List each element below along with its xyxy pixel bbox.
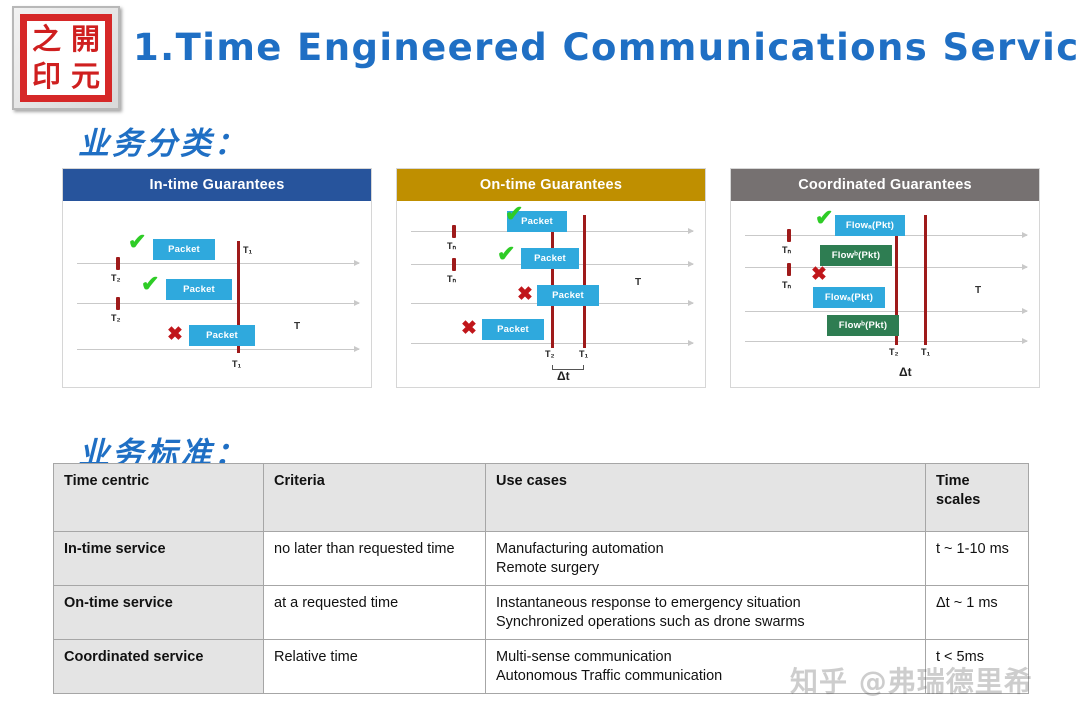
timeline-axis <box>745 341 1027 342</box>
packet-box: Packet <box>189 325 255 346</box>
tick-label-tn: Tₙ <box>447 274 456 285</box>
vline-label-t1: T₁ <box>579 349 588 359</box>
vline-t2 <box>551 215 554 348</box>
tick-label-tn: Tₙ <box>447 241 456 252</box>
cross-icon: ✖ <box>461 319 477 338</box>
tick-label-tn: Tₙ <box>782 245 791 256</box>
check-icon: ✔ <box>497 243 515 265</box>
cell-time-scale: t < 5ms <box>926 640 1029 694</box>
tick-mark <box>787 263 791 276</box>
flow-b-box: Flowᵇ(Pkt) <box>820 245 892 266</box>
seal-char-1: 之 <box>27 21 66 58</box>
seal-logo: 之 開 印 元 <box>12 6 120 110</box>
delta-label: Δt <box>557 369 570 383</box>
section-heading-classification: 业务分类： <box>78 118 248 163</box>
cell-time-centric: Coordinated service <box>54 640 264 694</box>
vline-label-t1: T₁ <box>243 245 252 255</box>
panel-coordinated-body: Tₙ Tₙ Flowₐ(Pkt) ✔ Flowᵇ(Pkt) Flowₐ(Pkt)… <box>731 201 1039 387</box>
cell-use-cases: Instantaneous response to emergency situ… <box>486 586 926 640</box>
column-header-use-cases: Use cases <box>486 464 926 532</box>
packet-box: Packet <box>537 285 599 306</box>
vline-label-t2: T₂ <box>889 347 899 357</box>
tick-mark <box>452 225 456 238</box>
cell-criteria: Relative time <box>264 640 486 694</box>
tick-mark <box>116 257 120 270</box>
cell-time-scale: t ~ 1-10 ms <box>926 532 1029 586</box>
page-title: 1.Time Engineered Communications Service… <box>133 26 1080 69</box>
tick-label-t2: T₂ <box>111 273 121 283</box>
service-standards-table: Time centric Criteria Use cases Time sca… <box>53 463 1029 694</box>
seal-logo-inner: 之 開 印 元 <box>20 14 112 102</box>
check-icon: ✔ <box>815 207 833 229</box>
cell-time-centric: In-time service <box>54 532 264 586</box>
panel-in-time: In-time Guarantees T₂ T₂ Packet ✔ Packet… <box>62 168 372 388</box>
use-case-item: Remote surgery <box>496 559 915 578</box>
vline-t1 <box>583 215 586 348</box>
panel-in-time-title: In-time Guarantees <box>63 169 371 201</box>
vline-label-t2: T₂ <box>545 349 555 359</box>
cell-criteria: at a requested time <box>264 586 486 640</box>
panel-on-time-body: Tₙ Tₙ Packet ✔ Packet ✔ Packet ✖ Packet … <box>397 201 705 387</box>
packet-box: Packet <box>482 319 544 340</box>
panel-on-time: On-time Guarantees Tₙ Tₙ Packet ✔ Packet… <box>396 168 706 388</box>
tick-mark <box>452 258 456 271</box>
cell-time-scale: Δt ~ 1 ms <box>926 586 1029 640</box>
column-header-time-scales: Time scales <box>926 464 1029 532</box>
axis-label-T: T <box>635 277 641 288</box>
tick-label-t2: T₂ <box>111 313 121 323</box>
timeline-axis <box>77 349 359 350</box>
axis-label-T: T <box>975 285 981 296</box>
bottom-label-t1: T₁ <box>232 359 241 369</box>
cross-icon: ✖ <box>517 285 533 304</box>
table-row: On-time service at a requested time Inst… <box>54 586 1029 640</box>
use-case-item: Instantaneous response to emergency situ… <box>496 594 915 613</box>
cell-use-cases: Multi-sense communication Autonomous Tra… <box>486 640 926 694</box>
check-icon: ✔ <box>505 203 523 225</box>
column-header-time-centric: Time centric <box>54 464 264 532</box>
check-icon: ✔ <box>128 231 146 253</box>
cross-icon: ✖ <box>811 265 827 284</box>
flow-a-box: Flowₐ(Pkt) <box>835 215 905 236</box>
vline-label-t1: T₁ <box>921 347 930 357</box>
cell-time-centric: On-time service <box>54 586 264 640</box>
table-row: In-time service no later than requested … <box>54 532 1029 586</box>
table-header-row: Time centric Criteria Use cases Time sca… <box>54 464 1029 532</box>
panel-in-time-body: T₂ T₂ Packet ✔ Packet ✔ Packet ✖ T₁ T₁ T <box>63 201 371 387</box>
check-icon: ✔ <box>141 273 159 295</box>
packet-box: Packet <box>153 239 215 260</box>
timeline-axis <box>745 311 1027 312</box>
tick-mark <box>787 229 791 242</box>
tick-label-tn: Tₙ <box>782 280 791 291</box>
column-header-time-scales-line1: Time <box>936 472 1018 491</box>
use-case-item: Synchronized operations such as drone sw… <box>496 613 915 632</box>
slide: 之 開 印 元 1.Time Engineered Communications… <box>0 0 1080 727</box>
packet-box: Packet <box>521 248 579 269</box>
cross-icon: ✖ <box>167 325 183 344</box>
cell-use-cases: Manufacturing automation Remote surgery <box>486 532 926 586</box>
column-header-criteria: Criteria <box>264 464 486 532</box>
guarantee-panels: In-time Guarantees T₂ T₂ Packet ✔ Packet… <box>62 168 1046 388</box>
seal-char-4: 元 <box>66 58 105 95</box>
panel-coordinated: Coordinated Guarantees Tₙ Tₙ Flowₐ(Pkt) … <box>730 168 1040 388</box>
use-case-item: Multi-sense communication <box>496 648 915 667</box>
use-case-item: Manufacturing automation <box>496 540 915 559</box>
seal-char-2: 開 <box>66 21 105 58</box>
panel-coordinated-title: Coordinated Guarantees <box>731 169 1039 201</box>
panel-on-time-title: On-time Guarantees <box>397 169 705 201</box>
flow-a-box: Flowₐ(Pkt) <box>813 287 885 308</box>
axis-label-T: T <box>294 321 300 332</box>
table-row: Coordinated service Relative time Multi-… <box>54 640 1029 694</box>
cell-criteria: no later than requested time <box>264 532 486 586</box>
tick-mark <box>116 297 120 310</box>
packet-box: Packet <box>166 279 232 300</box>
column-header-time-scales-line2: scales <box>936 491 1018 510</box>
flow-b-box: Flowᵇ(Pkt) <box>827 315 899 336</box>
delta-label: Δt <box>899 365 912 379</box>
vline-t1 <box>924 215 927 345</box>
seal-char-3: 印 <box>27 58 66 95</box>
use-case-item: Autonomous Traffic communication <box>496 667 915 686</box>
